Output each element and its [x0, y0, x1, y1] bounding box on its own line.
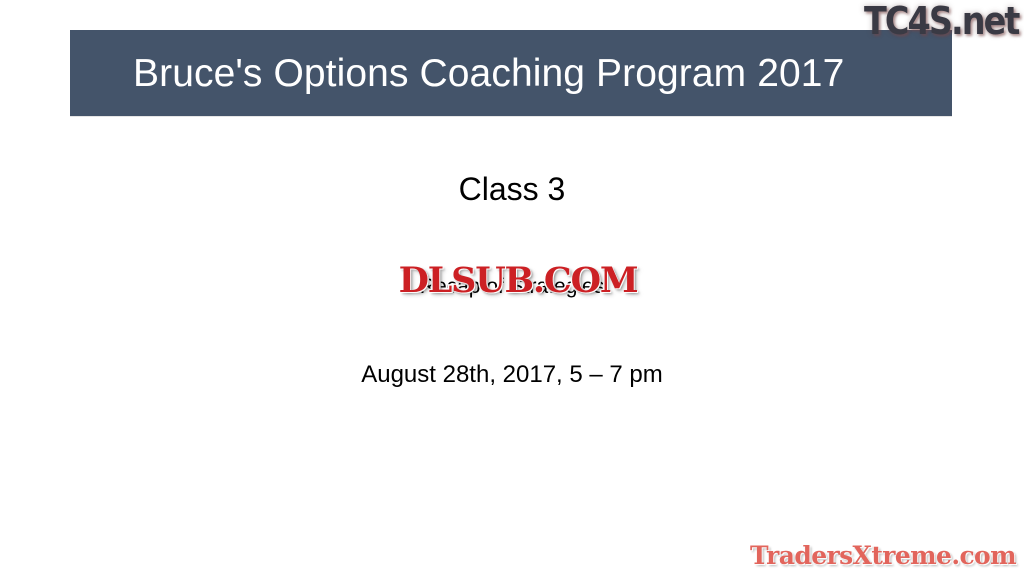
class-number-text: Class 3 — [0, 172, 1024, 207]
dlsub-watermark: DLSUB.COM — [399, 263, 638, 298]
tradersxtreme-watermark: TradersXtreme.com — [750, 543, 1016, 568]
slide-title: Bruce's Options Coaching Program 2017 — [70, 54, 844, 93]
title-banner: Bruce's Options Coaching Program 2017 — [70, 30, 952, 116]
presentation-slide: Bruce's Options Coaching Program 2017 Cl… — [0, 0, 1024, 576]
tc4s-watermark: TC4S.net — [864, 2, 1018, 42]
session-datetime-text: August 28th, 2017, 5 – 7 pm — [0, 362, 1024, 388]
